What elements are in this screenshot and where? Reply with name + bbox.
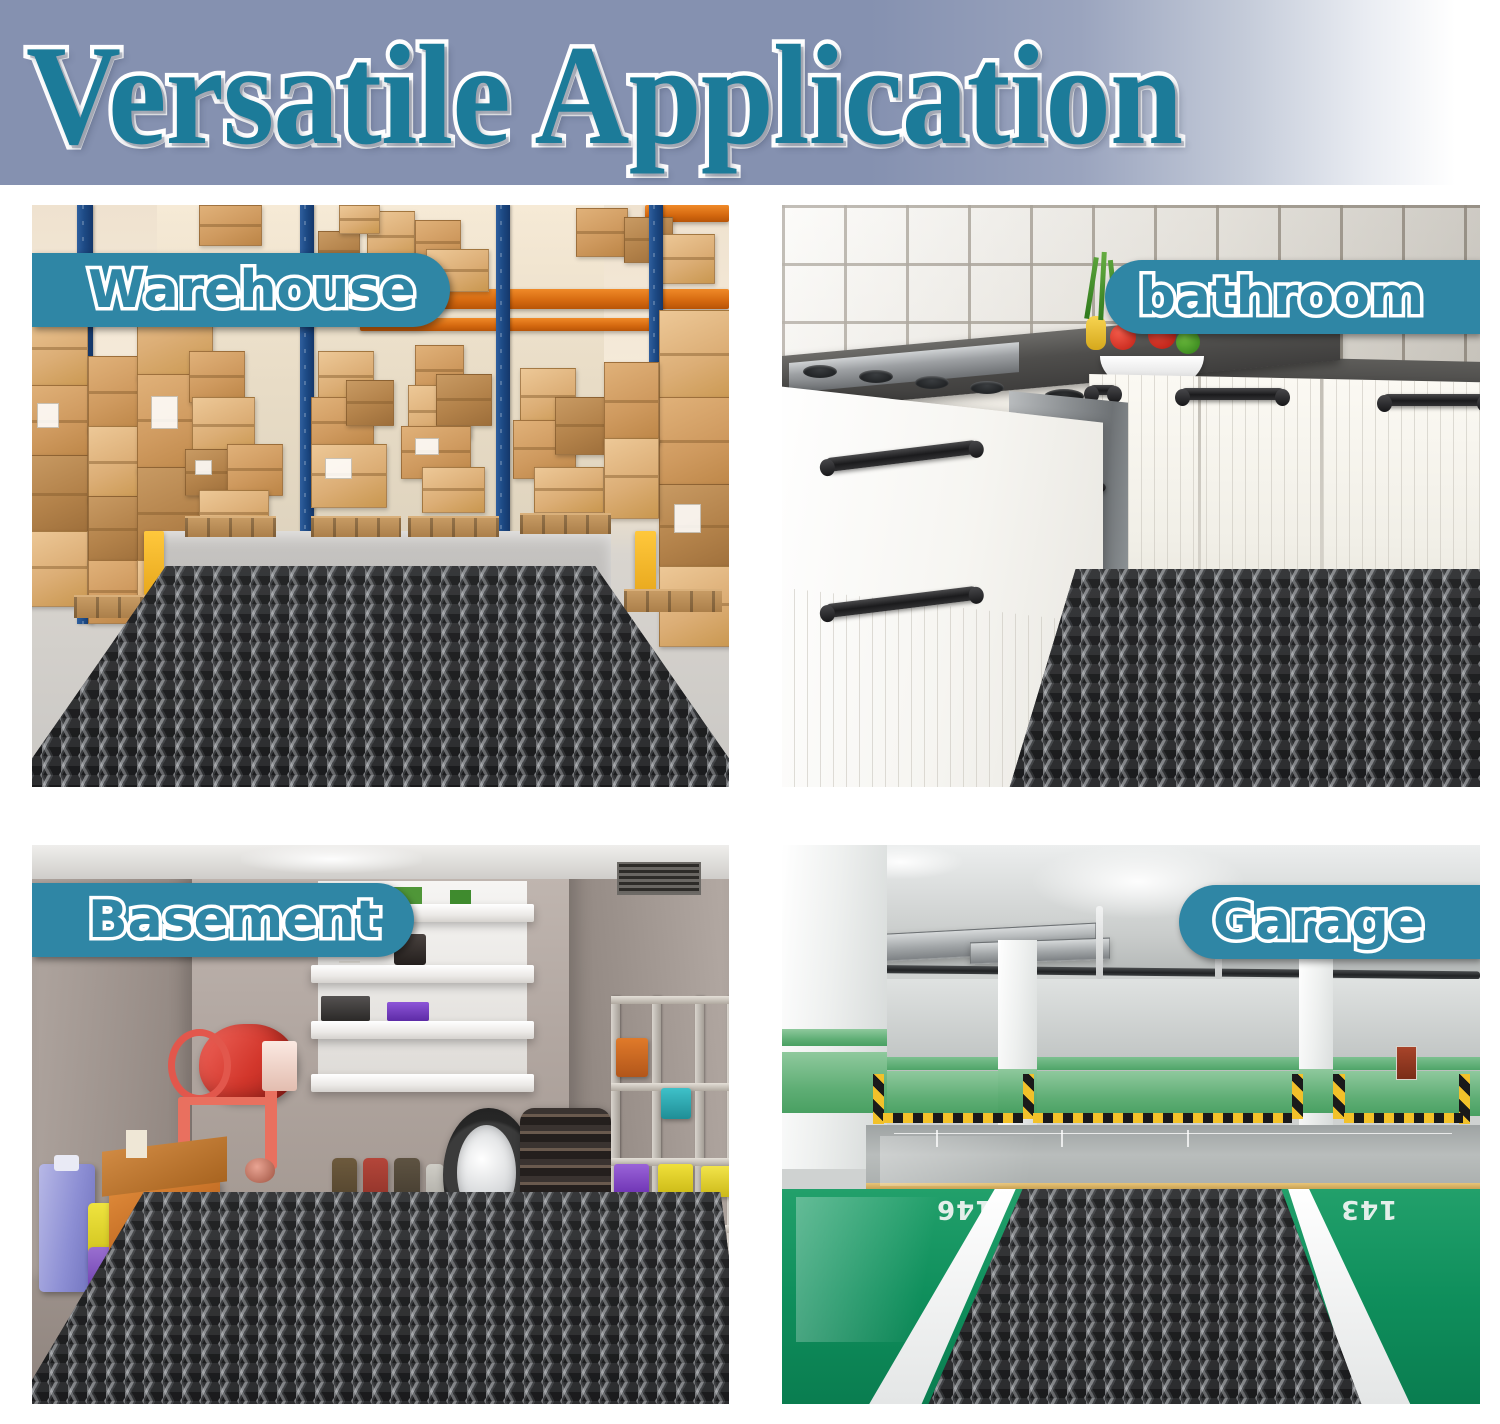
rack-post bbox=[727, 996, 729, 1276]
box-contents bbox=[126, 1130, 147, 1158]
cabinet-handle bbox=[1089, 385, 1117, 395]
ceiling-light-icon bbox=[241, 845, 422, 873]
cardboard-box bbox=[88, 496, 144, 566]
wall-shelf bbox=[311, 1074, 534, 1092]
panel-label-text: Basement bbox=[88, 894, 380, 946]
hazard-stripe bbox=[1292, 1074, 1303, 1119]
hazard-kerb bbox=[1033, 1113, 1291, 1123]
shelf-item bbox=[450, 890, 471, 904]
cardboard-box bbox=[32, 455, 88, 536]
garage-column bbox=[782, 845, 887, 1169]
pallet bbox=[520, 513, 611, 533]
hob-burner-icon bbox=[803, 365, 837, 378]
cardboard-box bbox=[311, 444, 388, 508]
wall-shelf bbox=[311, 965, 534, 983]
panel-label-warehouse: Warehouse bbox=[32, 253, 450, 327]
floor-reflection bbox=[880, 1136, 1159, 1186]
cardboard-box bbox=[604, 438, 660, 519]
stall-line bbox=[1187, 1130, 1189, 1147]
panel-warehouse[interactable]: Warehouse bbox=[32, 205, 729, 787]
panel-label-bathroom: bathroom bbox=[1105, 260, 1480, 334]
wall-shelf bbox=[311, 1021, 534, 1039]
cement-mixer-wheel bbox=[245, 1158, 276, 1183]
column-green-stripe bbox=[782, 1029, 887, 1046]
storage-bin bbox=[616, 1038, 649, 1077]
cardboard-box bbox=[88, 356, 144, 432]
pallet bbox=[311, 516, 402, 536]
header-banner: Versatile Application bbox=[0, 0, 1500, 185]
cardboard-box bbox=[534, 467, 604, 514]
column-green-panel bbox=[1299, 1069, 1334, 1114]
panel-bathroom[interactable]: bathroom bbox=[782, 205, 1480, 787]
cardboard-box bbox=[88, 426, 144, 502]
cardboard-box bbox=[227, 444, 283, 496]
storage-bin bbox=[661, 1088, 691, 1119]
cardboard-box bbox=[436, 374, 492, 426]
cement-mixer-frame bbox=[178, 1097, 276, 1106]
panel-garage[interactable]: 146 143 Garage bbox=[782, 845, 1480, 1404]
jerry-can-cap bbox=[54, 1155, 78, 1171]
pallet bbox=[185, 516, 276, 536]
fire-extinguisher-box bbox=[1396, 1046, 1417, 1080]
pallet bbox=[624, 589, 722, 612]
toolbox-icon bbox=[321, 996, 370, 1021]
cardboard-box bbox=[604, 362, 660, 443]
cardboard-box bbox=[576, 208, 628, 257]
hazard-stripe bbox=[873, 1074, 884, 1124]
pallet bbox=[408, 516, 499, 536]
cement-mixer-panel bbox=[262, 1041, 297, 1091]
cabinet-handle bbox=[1382, 394, 1480, 406]
cardboard-box bbox=[659, 484, 729, 571]
panel-label-text: Garage bbox=[1213, 896, 1424, 948]
hazard-kerb bbox=[1344, 1113, 1463, 1123]
cardboard-box bbox=[199, 205, 262, 246]
hob-burner-icon bbox=[915, 376, 949, 389]
wall-green-panel bbox=[866, 1071, 1480, 1116]
hazard-stripe bbox=[1023, 1074, 1034, 1119]
cement-mixer-wheel bbox=[168, 1029, 231, 1102]
cardboard-box bbox=[346, 380, 395, 427]
air-vent-icon bbox=[617, 862, 701, 896]
storage-bin bbox=[387, 1002, 429, 1022]
hazard-kerb bbox=[883, 1113, 1023, 1123]
panel-grid: Warehouse bbox=[0, 185, 1500, 1424]
wall-green-stripe bbox=[866, 1057, 1480, 1069]
cardboard-box bbox=[32, 385, 88, 461]
panel-label-text: bathroom bbox=[1139, 271, 1424, 323]
panel-label-basement: Basement bbox=[32, 883, 414, 957]
jerry-can bbox=[39, 1164, 95, 1293]
versatile-application-infographic: Versatile Application bbox=[0, 0, 1500, 1424]
panel-basement[interactable]: Basement bbox=[32, 845, 729, 1404]
cardboard-box bbox=[659, 234, 715, 283]
stall-number-right: 143 bbox=[1340, 1194, 1397, 1224]
hazard-stripe bbox=[1333, 1074, 1344, 1119]
cardboard-box bbox=[659, 397, 729, 490]
diamond-plate-mat bbox=[32, 1192, 729, 1404]
cardboard-box bbox=[339, 205, 381, 234]
cardboard-box bbox=[555, 397, 611, 455]
rack-guard-post bbox=[635, 531, 656, 595]
banana-icon bbox=[1086, 316, 1106, 350]
cabinet-handle bbox=[1180, 388, 1285, 400]
cardboard-box bbox=[659, 310, 729, 403]
hob-burner-icon bbox=[970, 381, 1004, 394]
cardboard-box bbox=[189, 351, 245, 403]
rack-shelf bbox=[611, 996, 730, 1004]
page-title: Versatile Application bbox=[26, 8, 1182, 182]
diamond-plate-mat bbox=[1005, 569, 1480, 787]
panel-label-text: Warehouse bbox=[88, 264, 416, 316]
ceiling-pipe bbox=[1096, 906, 1103, 979]
column-green-panel bbox=[782, 1052, 887, 1113]
rack-upright-icon bbox=[496, 205, 511, 537]
panel-label-garage: Garage bbox=[1179, 885, 1480, 959]
stall-line bbox=[894, 1133, 1452, 1134]
cardboard-box bbox=[422, 467, 485, 514]
